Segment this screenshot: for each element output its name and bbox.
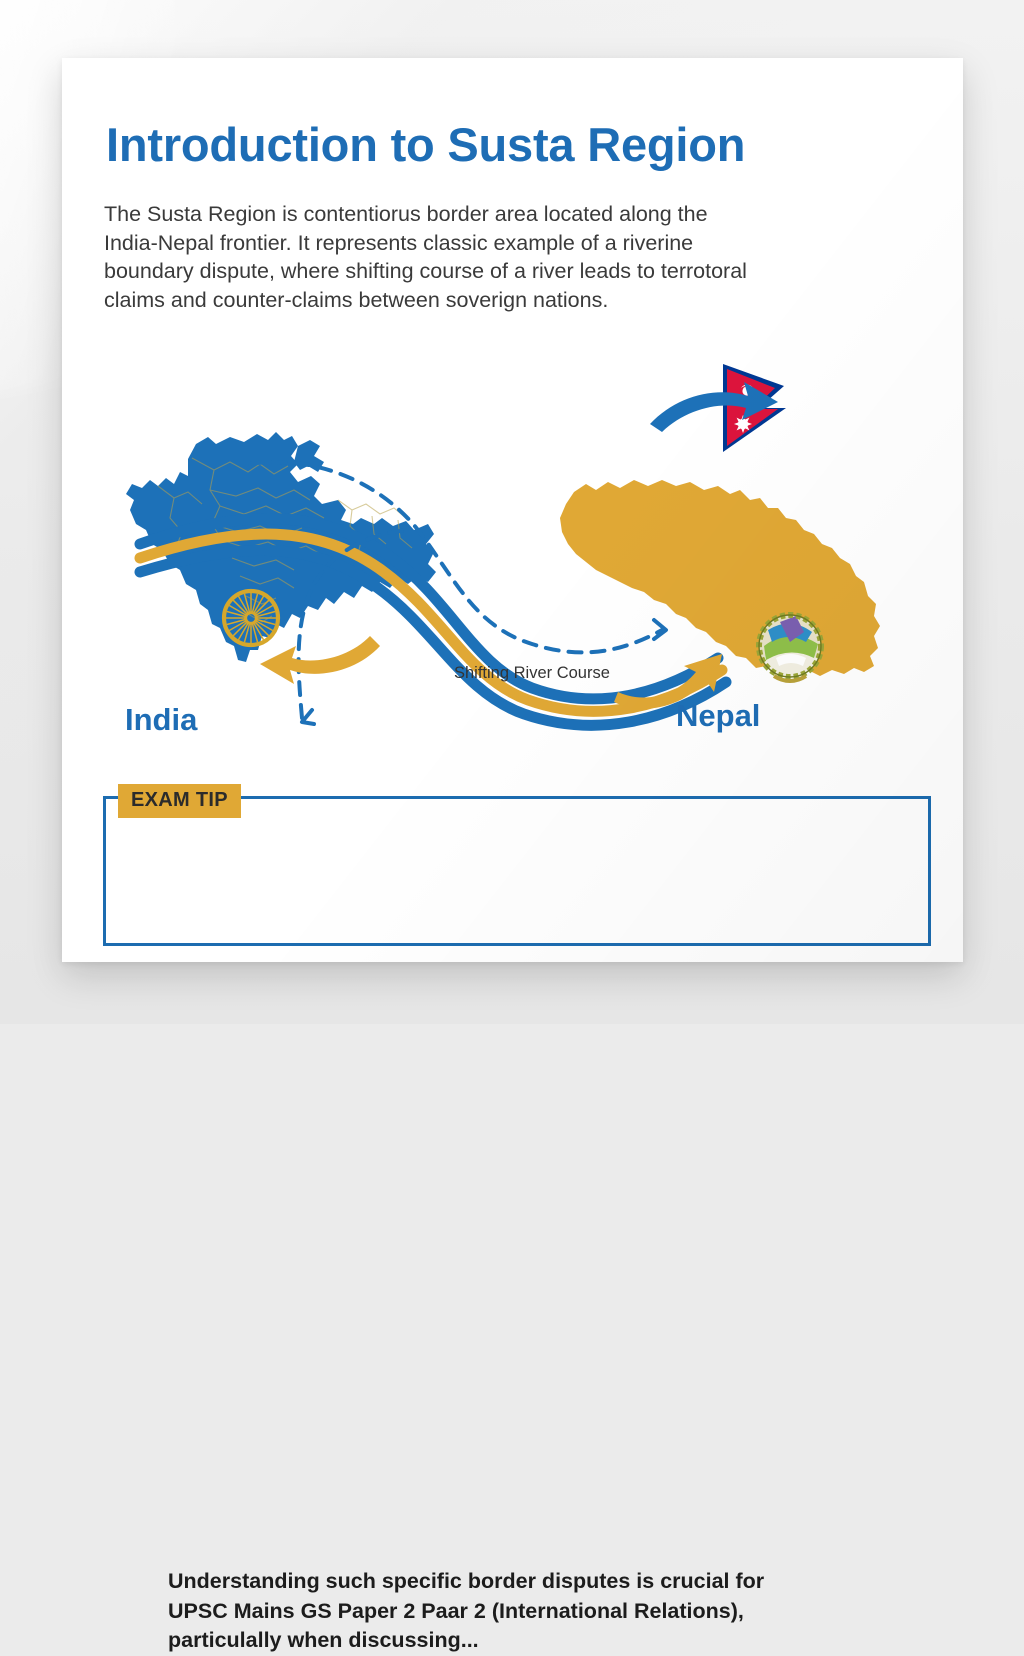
intro-paragraph: The Susta Region is contentiorus border …: [104, 200, 874, 314]
intro-line-1: The Susta Region is contentiorus border …: [104, 200, 874, 229]
india-nepal-illustration: India Nepal Shifting River Course: [62, 358, 963, 778]
arrow-left-icon: [260, 636, 380, 684]
shifting-river-course-label: Shifting River Course: [454, 664, 610, 683]
india-label: India: [125, 702, 197, 738]
nepal-map-icon: [560, 480, 880, 676]
intro-line-2: India-Nepal frontier. It represents clas…: [104, 229, 874, 258]
nepal-label: Nepal: [676, 698, 760, 734]
exam-tip-line-1: Understanding such specific border dispu…: [168, 1567, 948, 1597]
page-title: Introduction to Susta Region: [106, 120, 926, 169]
exam-tip-text: Understanding such specific border dispu…: [168, 1567, 948, 1656]
exam-tip-box: Understanding such specific border dispu…: [103, 796, 931, 946]
infographic-card: Introduction to Susta Region The Susta R…: [62, 58, 963, 962]
intro-line-3: boundary dispute, where shifting course …: [104, 257, 874, 286]
exam-tip-line-2: UPSC Mains GS Paper 2 Paar 2 (Internatio…: [168, 1597, 948, 1627]
intro-line-4: claims and counter-claims between soveri…: [104, 286, 874, 315]
exam-tip-line-3: particulally when discussing...: [168, 1626, 948, 1656]
exam-tip-badge: EXAM TIP: [118, 784, 241, 818]
